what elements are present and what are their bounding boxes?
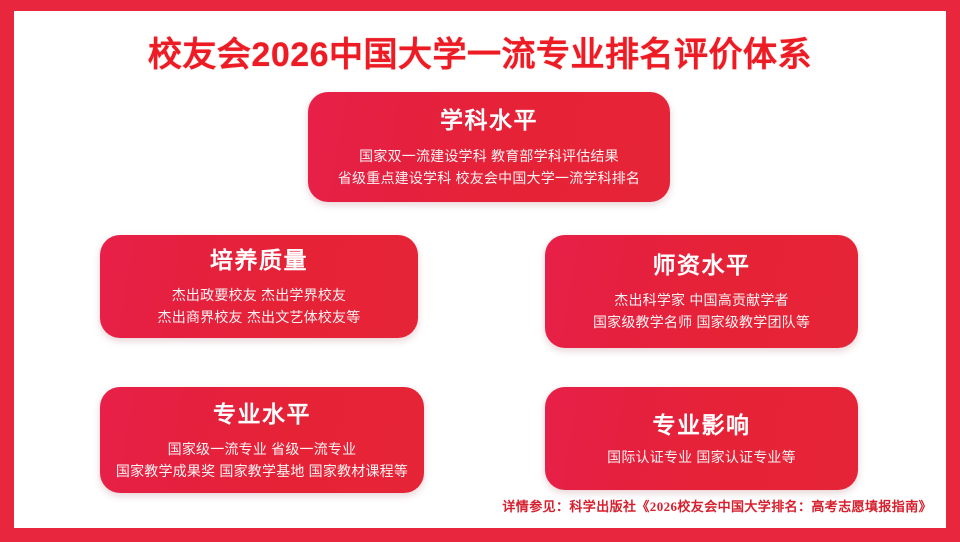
- card-discipline: 学科水平 国家双一流建设学科 教育部学科评估结果 省级重点建设学科 校友会中国大…: [308, 92, 670, 202]
- card-faculty: 师资水平 杰出科学家 中国高贡献学者 国家级教学名师 国家级教学团队等: [545, 235, 858, 348]
- card-major-influence: 专业影响 国际认证专业 国家认证专业等: [545, 387, 858, 490]
- card-detail-line: 国家双一流建设学科 教育部学科评估结果: [338, 145, 640, 167]
- card-cultivation-title: 培养质量: [210, 245, 308, 275]
- footer-note: 详情参见：科学出版社《2026校友会中国大学排名：高考志愿填报指南》: [502, 498, 932, 516]
- card-detail-line: 国家级一流专业 省级一流专业: [116, 438, 408, 460]
- card-detail-line: 杰出科学家 中国高贡献学者: [593, 289, 810, 311]
- card-detail-line: 国家教学成果奖 国家教学基地 国家教材课程等: [116, 460, 408, 482]
- page-title: 校友会2026中国大学一流专业排名评价体系: [14, 33, 946, 77]
- card-faculty-title: 师资水平: [653, 250, 751, 280]
- card-detail-line: 国家级教学名师 国家级教学团队等: [593, 311, 810, 333]
- card-detail-line: 杰出政要校友 杰出学界校友: [158, 284, 361, 306]
- card-detail-line: 国际认证专业 国家认证专业等: [607, 446, 796, 468]
- card-major-level: 专业水平 国家级一流专业 省级一流专业 国家教学成果奖 国家教学基地 国家教材课…: [100, 387, 424, 493]
- card-cultivation-details: 杰出政要校友 杰出学界校友 杰出商界校友 杰出文艺体校友等: [158, 284, 361, 328]
- card-detail-line: 杰出商界校友 杰出文艺体校友等: [158, 306, 361, 328]
- card-discipline-title: 学科水平: [440, 105, 538, 135]
- card-cultivation: 培养质量 杰出政要校友 杰出学界校友 杰出商界校友 杰出文艺体校友等: [100, 235, 418, 338]
- card-major-level-title: 专业水平: [213, 399, 311, 429]
- card-faculty-details: 杰出科学家 中国高贡献学者 国家级教学名师 国家级教学团队等: [593, 289, 810, 333]
- card-major-influence-details: 国际认证专业 国家认证专业等: [607, 446, 796, 468]
- card-major-level-details: 国家级一流专业 省级一流专业 国家教学成果奖 国家教学基地 国家教材课程等: [116, 438, 408, 482]
- card-discipline-details: 国家双一流建设学科 教育部学科评估结果 省级重点建设学科 校友会中国大学一流学科…: [338, 145, 640, 189]
- poster-root: 校友会2026中国大学一流专业排名评价体系 学科水平 国家双一流建设学科 教育部…: [0, 0, 960, 542]
- poster-canvas: 校友会2026中国大学一流专业排名评价体系 学科水平 国家双一流建设学科 教育部…: [14, 11, 946, 528]
- card-major-influence-title: 专业影响: [653, 410, 751, 440]
- card-detail-line: 省级重点建设学科 校友会中国大学一流学科排名: [338, 167, 640, 189]
